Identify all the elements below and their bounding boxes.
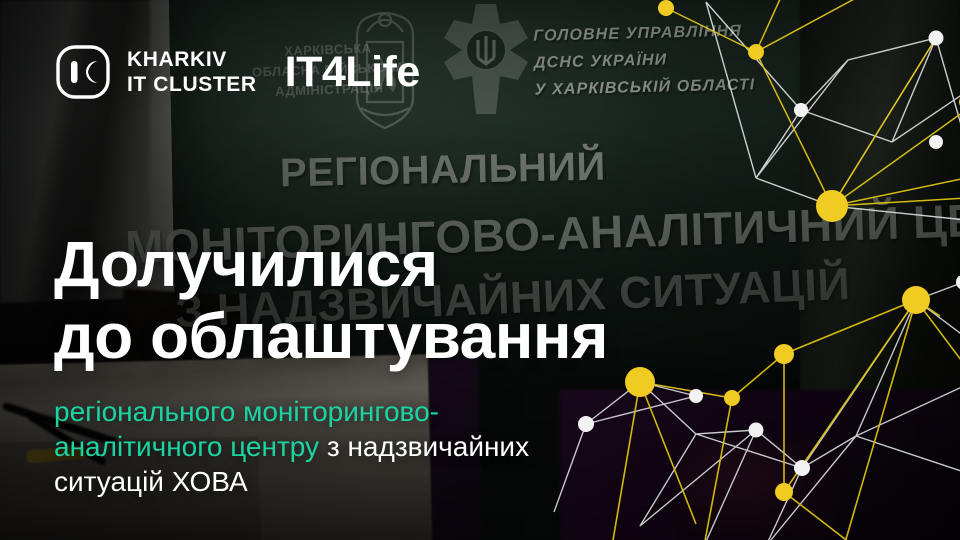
promo-banner: ХАРКІВСЬКА ОБЛАСНА ВІЙСЬКОВА АДМІНІСТРАЦ… [0,0,960,540]
it4life-wordmark: IT4Life [285,48,420,97]
subtitle-accent-2: аналітичного центру [54,431,319,462]
headline-line-2: до облаштування [54,300,694,372]
headline-line-1: Долучилися [54,228,694,300]
subtitle-plain-2: ситуацій ХОВА [54,466,248,497]
copy-block: Долучилися до облаштування регіонального… [54,228,694,499]
brand-bar: KHARKIV IT CLUSTER IT4Life [55,44,420,100]
kharkiv-it-cluster-wordmark: KHARKIV IT CLUSTER [127,47,257,97]
brand-line-2: IT CLUSTER [127,72,257,97]
subtitle: регіонального моніторингово- аналітичног… [54,394,694,499]
subtitle-plain-1: з надзвичайних [319,431,529,462]
brand-line-1: KHARKIV [127,47,257,72]
page-title: Долучилися до облаштування [54,228,694,372]
subtitle-accent-1: регіонального моніторингово- [54,396,439,427]
kharkiv-it-cluster-logo-icon[interactable] [55,44,111,100]
